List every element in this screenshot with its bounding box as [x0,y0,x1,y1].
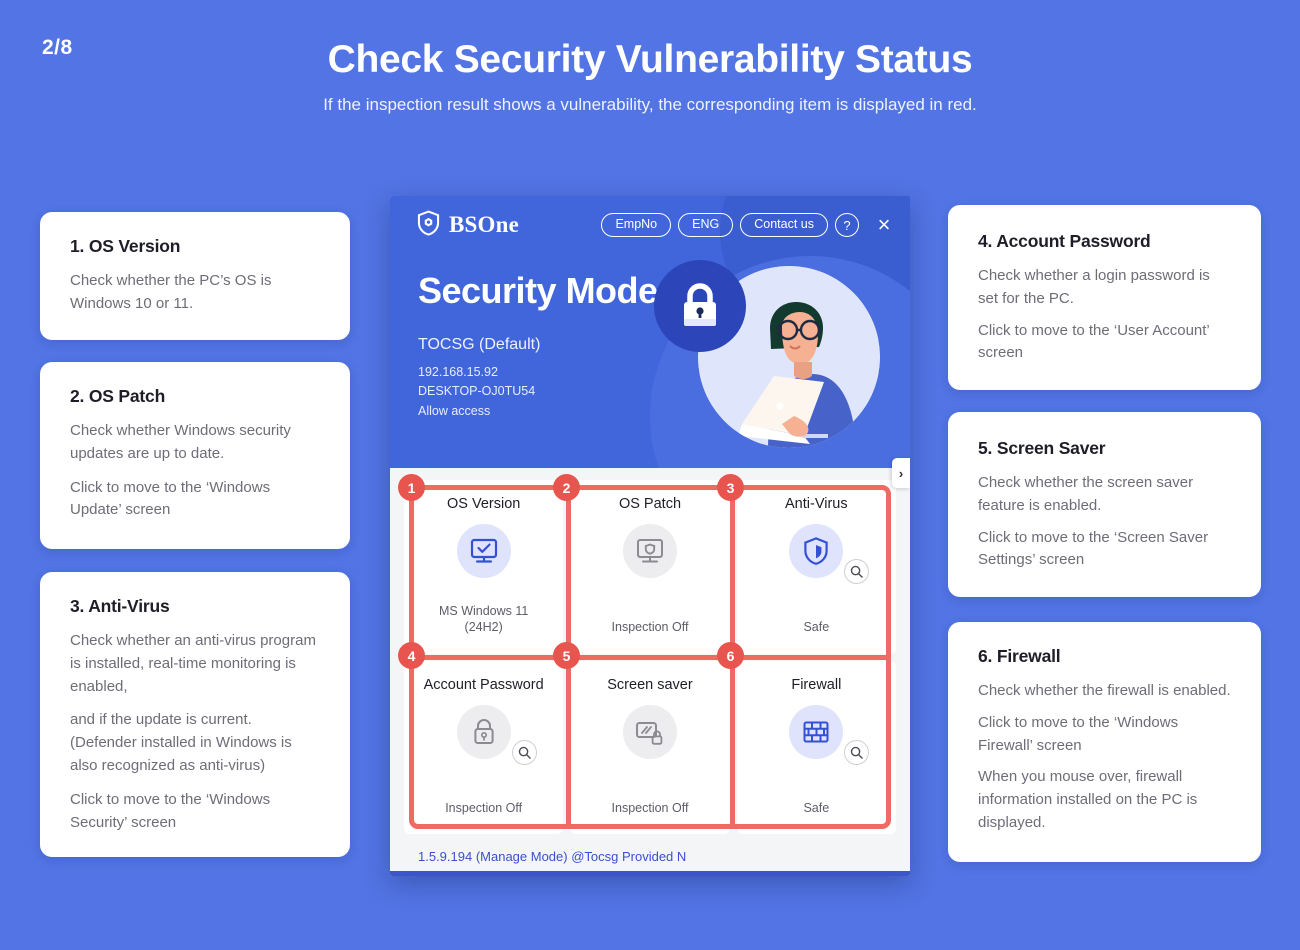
bsone-app-window: BSOne EmpNo ENG Contact us ? × Security … [390,196,910,876]
step-badge-4: 4 [398,642,425,669]
monitor-check-icon [457,524,511,578]
inspection-grid-zone: OS Version MS Windows 11 (24H2) OS P [390,468,910,840]
padlock-badge-icon [654,260,746,352]
help-icon[interactable]: ? [835,213,859,237]
info-card-os-patch: 2. OS Patch Check whether Windows securi… [40,362,350,549]
close-icon[interactable]: × [872,214,896,236]
tile-icon-wrap [789,705,843,759]
info-card-firewall: 6. Firewall Check whether the firewall i… [948,622,1261,862]
tile-title: OS Version [447,496,520,512]
brick-wall-icon [789,705,843,759]
info-card-line: Check whether the firewall is enabled. [978,680,1233,703]
tile-status: Safe [737,619,896,635]
tile-status: Safe [737,800,896,816]
app-brand-name: BSOne [449,212,519,238]
tile-status: Inspection Off [570,800,729,816]
tile-firewall[interactable]: Firewall [737,661,896,835]
contact-us-button[interactable]: Contact us [740,213,828,237]
tile-icon-wrap [789,524,843,578]
tile-title: Firewall [791,677,841,693]
tile-os-patch[interactable]: OS Patch Inspection Off [570,480,729,654]
footer-strip [390,871,910,876]
tile-icon-wrap [623,524,677,578]
tile-icon-wrap [457,524,511,578]
inspection-tile-grid: OS Version MS Windows 11 (24H2) OS P [404,480,896,834]
step-badge-1: 1 [398,474,425,501]
tile-status: Inspection Off [404,800,563,816]
tile-icon-wrap [457,705,511,759]
info-card-line: Click to move to the ‘Windows Security’ … [70,789,322,835]
tile-account-password[interactable]: Account Password [404,661,563,835]
info-card-line: Check whether an anti-virus program is i… [70,630,322,698]
info-card-line: When you mouse over, firewall informatio… [978,766,1233,834]
app-titlebar: BSOne EmpNo ENG Contact us ? × [390,196,910,254]
tile-title: Screen saver [607,677,692,693]
info-card-screen-saver: 5. Screen Saver Check whether the screen… [948,412,1261,597]
search-icon[interactable] [844,559,869,584]
bsone-shield-logo-icon [416,210,441,241]
chevron-right-icon[interactable]: › [892,458,910,488]
tile-title: Account Password [424,677,544,693]
security-illustration [648,254,898,468]
screen-lock-icon [623,705,677,759]
app-brand: BSOne [416,210,519,241]
search-icon[interactable] [512,740,537,765]
info-card-line: Check whether a login password is set fo… [978,265,1233,311]
info-card-line: Check whether Windows security updates a… [70,420,322,466]
padlock-icon [457,705,511,759]
tile-anti-virus[interactable]: Anti-Virus Safe [737,480,896,654]
info-card-line: Check whether the screen saver feature i… [978,472,1233,518]
info-card-title: 3. Anti-Virus [70,596,322,617]
info-card-os-version: 1. OS Version Check whether the PC’s OS … [40,212,350,340]
info-card-title: 6. Firewall [978,646,1233,667]
app-banner: BSOne EmpNo ENG Contact us ? × Security … [390,196,910,468]
info-card-line: Check whether the PC’s OS is Windows 10 … [70,270,322,316]
step-badge-3: 3 [717,474,744,501]
info-card-title: 2. OS Patch [70,386,322,407]
step-badge-2: 2 [553,474,580,501]
app-footer: 1.5.9.194 (Manage Mode) @Tocsg Provided … [390,836,910,876]
language-button[interactable]: ENG [678,213,733,237]
info-card-account-password: 4. Account Password Check whether a logi… [948,205,1261,390]
tile-title: OS Patch [619,496,681,512]
monitor-shield-icon [623,524,677,578]
info-card-anti-virus: 3. Anti-Virus Check whether an anti-viru… [40,572,350,857]
empno-button[interactable]: EmpNo [601,213,671,237]
tile-status: MS Windows 11 (24H2) [404,603,563,636]
info-card-line: Click to move to the ‘User Account’ scre… [978,320,1233,366]
tile-os-version[interactable]: OS Version MS Windows 11 (24H2) [404,480,563,654]
titlebar-actions: EmpNo ENG Contact us ? × [601,213,896,237]
tile-status: Inspection Off [570,619,729,635]
tile-screen-saver[interactable]: Screen saver Inspection Off [570,661,729,835]
page-title: Check Security Vulnerability Status [0,38,1300,82]
info-card-title: 1. OS Version [70,236,322,257]
highlight-divider [409,655,891,660]
info-card-line: Click to move to the ‘Screen Saver Setti… [978,527,1233,573]
info-card-title: 5. Screen Saver [978,438,1233,459]
info-card-line: Click to move to the ‘Windows Update’ sc… [70,477,322,523]
step-badge-6: 6 [717,642,744,669]
info-card-title: 4. Account Password [978,231,1233,252]
search-icon[interactable] [844,740,869,765]
version-text: 1.5.9.194 (Manage Mode) @Tocsg Provided … [418,849,686,864]
tile-icon-wrap [623,705,677,759]
info-card-line: Click to move to the ‘Windows Firewall’ … [978,712,1233,758]
shield-icon [789,524,843,578]
info-card-line: and if the update is current. (Defender … [70,709,322,777]
page-subtitle: If the inspection result shows a vulnera… [0,95,1300,115]
tile-title: Anti-Virus [785,496,848,512]
step-badge-5: 5 [553,642,580,669]
